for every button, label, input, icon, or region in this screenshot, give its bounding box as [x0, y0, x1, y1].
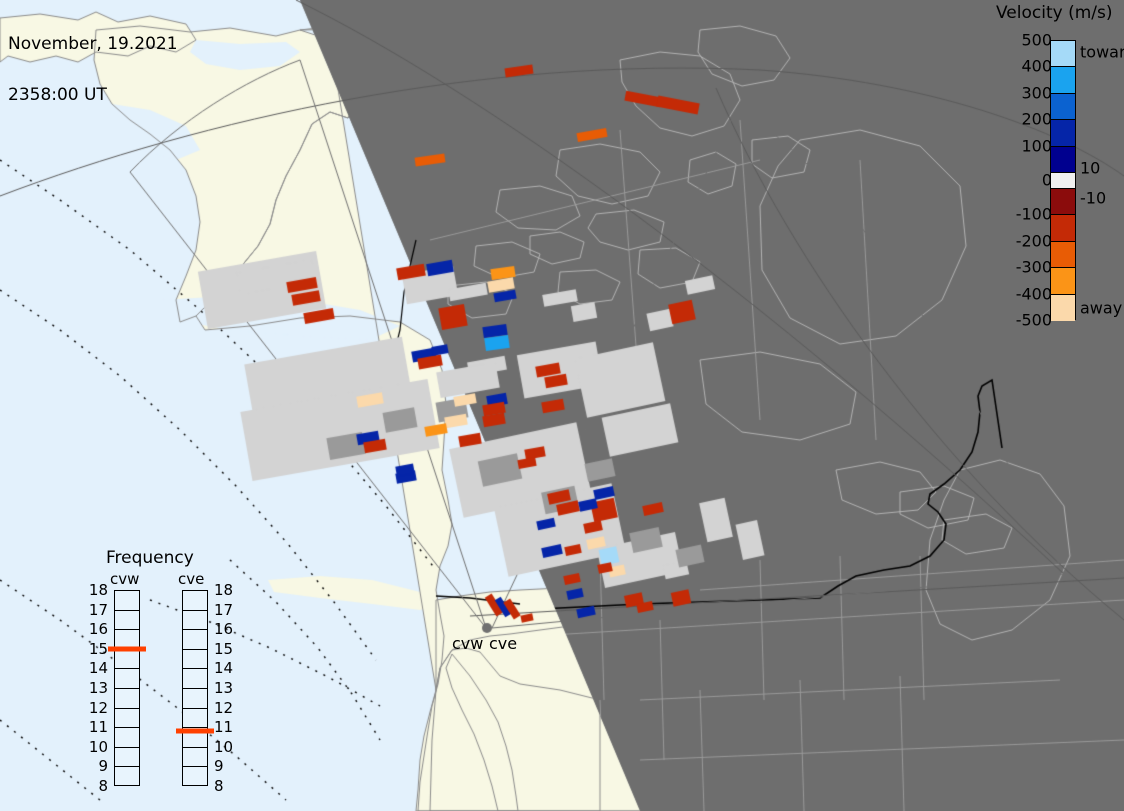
- velocity-toward-label: toward: [1080, 42, 1124, 61]
- velocity-inner-pos-label: 10: [1080, 159, 1100, 178]
- frequency-bar-cell: [115, 728, 139, 748]
- velocity-tick-label: -300: [1016, 258, 1052, 277]
- frequency-tick-label: 9: [88, 757, 108, 775]
- velocity-inner-neg-label: -10: [1080, 188, 1106, 207]
- frequency-legend: Frequency cvw18171615141312111098cve1817…: [88, 548, 248, 788]
- frequency-tick-label: 18: [88, 581, 108, 599]
- frequency-bar-cell: [183, 709, 207, 729]
- timestamp: November, 19.2021 2358:00 UT: [8, 2, 178, 138]
- frequency-tick-label: 10: [88, 738, 108, 756]
- frequency-bar-cell: [115, 611, 139, 631]
- frequency-tick-label: 14: [214, 659, 233, 677]
- velocity-tick-label: -100: [1016, 205, 1052, 224]
- velocity-colorbar-segment: [1051, 120, 1075, 146]
- velocity-tick-label: 400: [1021, 57, 1052, 76]
- frequency-bar-cell: [115, 591, 139, 611]
- frequency-bar-label-cvw: cvw: [110, 570, 139, 588]
- frequency-bar-cell: [115, 689, 139, 709]
- velocity-tick-label: -400: [1016, 284, 1052, 303]
- frequency-bar-cell: [183, 611, 207, 631]
- frequency-legend-title: Frequency: [106, 548, 194, 568]
- frequency-tick-label: 9: [214, 757, 224, 775]
- frequency-bar-cell: [115, 748, 139, 768]
- frequency-bar-cell: [115, 709, 139, 729]
- velocity-tick-label: 200: [1021, 110, 1052, 129]
- velocity-colorbar-segment: [1051, 189, 1075, 215]
- velocity-colorbar: [1050, 40, 1076, 320]
- frequency-tick-label: 15: [88, 640, 108, 658]
- frequency-bar-cell: [183, 689, 207, 709]
- frequency-tick-label: 13: [88, 679, 108, 697]
- site-label-cve: cve: [489, 634, 517, 653]
- velocity-colorbar-segment: [1051, 215, 1075, 241]
- velocity-tick-label: 0: [1042, 171, 1052, 190]
- radar-map-figure: November, 19.2021 2358:00 UT Velocity (m…: [0, 0, 1124, 811]
- frequency-bar-cell: [183, 748, 207, 768]
- frequency-tick-label: 12: [214, 699, 233, 717]
- velocity-colorbar-segment: [1051, 94, 1075, 120]
- frequency-tick-label: 17: [88, 601, 108, 619]
- frequency-tick-label: 17: [214, 601, 233, 619]
- frequency-bar-cell: [183, 650, 207, 670]
- frequency-tick-label: 16: [214, 620, 233, 638]
- velocity-tick-label: -200: [1016, 231, 1052, 250]
- frequency-tick-label: 13: [214, 679, 233, 697]
- timestamp-date: November, 19.2021: [8, 36, 178, 53]
- velocity-colorbar-segment: [1051, 268, 1075, 294]
- velocity-tick-label: 300: [1021, 83, 1052, 102]
- frequency-bar-cell: [115, 650, 139, 670]
- velocity-away-label: away: [1080, 299, 1122, 318]
- site-label-cvw: cvw: [452, 634, 483, 653]
- frequency-bar-cve: [182, 590, 208, 786]
- velocity-colorbar-segment: [1051, 147, 1075, 173]
- frequency-tick-label: 8: [88, 777, 108, 795]
- frequency-tick-label: 11: [88, 718, 108, 736]
- velocity-colorbar-segment: [1051, 41, 1075, 67]
- velocity-colorbar-segment: [1051, 67, 1075, 93]
- velocity-tick-label: -500: [1016, 311, 1052, 330]
- frequency-tick-label: 12: [88, 699, 108, 717]
- frequency-tick-label: 15: [214, 640, 233, 658]
- frequency-tick-label: 18: [214, 581, 233, 599]
- frequency-marker-cvw: [108, 646, 146, 651]
- frequency-tick-label: 16: [88, 620, 108, 638]
- velocity-colorbar-segment: [1051, 295, 1075, 321]
- frequency-tick-label: 10: [214, 738, 233, 756]
- velocity-tick-label: 100: [1021, 136, 1052, 155]
- velocity-tick-label: 500: [1021, 31, 1052, 50]
- velocity-colorbar-segment: [1051, 242, 1075, 268]
- velocity-colorbar-segment: [1051, 173, 1075, 189]
- frequency-bar-cell: [115, 767, 139, 787]
- frequency-bar-cell: [183, 767, 207, 787]
- frequency-bar-cell: [183, 591, 207, 611]
- frequency-marker-cve: [176, 729, 214, 734]
- timestamp-time: 2358:00 UT: [8, 87, 178, 104]
- frequency-bar-label-cve: cve: [178, 570, 204, 588]
- frequency-bar-cell: [183, 630, 207, 650]
- frequency-tick-label: 14: [88, 659, 108, 677]
- velocity-legend-title: Velocity (m/s): [996, 3, 1113, 23]
- frequency-tick-label: 11: [214, 718, 233, 736]
- velocity-legend: Velocity (m/s) 5004003002001000-100-200-…: [988, 0, 1124, 330]
- frequency-bar-cvw: [114, 590, 140, 786]
- frequency-tick-label: 8: [214, 777, 224, 795]
- frequency-bar-cell: [115, 669, 139, 689]
- frequency-bar-cell: [183, 669, 207, 689]
